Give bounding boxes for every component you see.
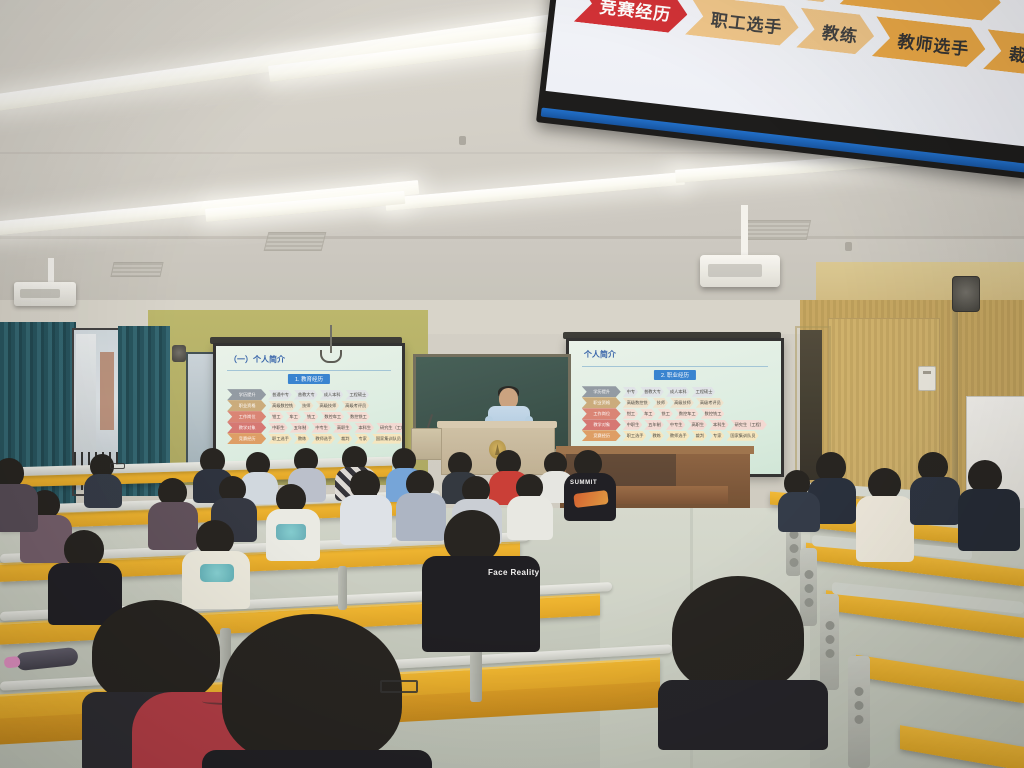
slide-row-label: 教学对象: [582, 419, 621, 430]
slide-cell: 高级技师: [316, 401, 340, 411]
ceiling-vent: [264, 232, 327, 251]
wall-speaker-icon: [172, 345, 186, 362]
soffit-edge: [0, 236, 1024, 239]
slide-row: 教学对象 中职生 五年制 中专生 高职生 本科生 研究生（工程）: [227, 422, 394, 433]
slide-cell: 工程硕士: [345, 390, 369, 400]
slide-cell: 教练: [796, 8, 876, 56]
shirt-graphic-text: SUMMIT: [570, 480, 597, 486]
slide-cell: 中职生: [623, 420, 643, 430]
slide-cell: 成人本科: [320, 390, 344, 400]
slide-cell: 高职生: [687, 420, 707, 430]
slide-divider: [582, 366, 769, 367]
slide-cell: 铣工: [303, 412, 318, 422]
shirt-graphic: [276, 524, 306, 540]
screen-hook: [330, 325, 332, 353]
slide-cell: 车工: [640, 409, 655, 419]
lecture-hall-photo: 教学对象 竞赛经历 职工选手 教练 教师选手 裁 （一）个人简介 1. 教育经历…: [0, 0, 1024, 768]
slide-cell: 职工选手: [685, 0, 801, 47]
slide-cell: 教练: [648, 431, 663, 441]
podium-top: [437, 421, 557, 428]
slide-cell: 教练: [294, 434, 309, 444]
slide-cell: 国家集训队员: [372, 434, 404, 444]
shirt-graphic-text: Face Reality: [488, 568, 540, 577]
wall-pipe: [952, 288, 958, 488]
slide-cell: 中专生: [311, 423, 331, 433]
projector-right-icon: [700, 255, 780, 287]
slide-cell: 国家集训队员: [726, 431, 758, 441]
slide-cell: 本科生: [709, 420, 729, 430]
slide-rows: 学历提升 中专 普教大专 成人本科 工程硕士 职业资格 高级数控铣 技师 高级技…: [582, 386, 773, 441]
bench-leg: [470, 644, 482, 702]
slide-row-label: 竞赛经历: [227, 433, 266, 444]
slide-cell: 裁判: [692, 431, 707, 441]
slide-cell: 中专: [623, 387, 638, 397]
projector-mount-pole: [741, 205, 748, 257]
stage-step: [600, 486, 728, 504]
slide-cell: 中专生: [666, 420, 686, 430]
ceiling-light-strip: [0, 12, 566, 112]
slide-cell: 教师选手: [872, 16, 988, 69]
slide-cell: 研究生（工程）: [376, 423, 405, 433]
slide-row: 竞赛经历 职工选手 教练 教师选手 裁判 专家 国家集训队员: [227, 433, 394, 444]
projector-left-icon: [14, 282, 76, 306]
slide-cell: 高级数控铣: [623, 398, 651, 408]
slide-cell: 数控铣工: [701, 409, 725, 419]
slide-row-label: 学历提升: [227, 389, 266, 400]
slide-cell: 钳工: [268, 412, 283, 422]
slide-row: 教学对象 中职生 五年制 中专生 高职生 本科生 研究生（工程）: [582, 419, 773, 430]
slide-cell: 专家: [354, 434, 369, 444]
slide-row: 学历提升 普通中专 普教大专 成人本科 工程硕士: [227, 389, 394, 400]
slide-cell: 专家: [709, 431, 724, 441]
slide-title: 个人简介: [584, 349, 616, 360]
slide-cell: 技师: [298, 401, 313, 411]
slide-row: 学历提升 中专 普教大专 成人本科 工程硕士: [582, 386, 773, 397]
slide-cell: 数控车工: [675, 409, 699, 419]
ceiling-vent: [743, 220, 811, 240]
slide-cell: 本科生: [354, 423, 374, 433]
slide-rows: 学历提升 普通中专 普教大专 成人本科 工程硕士 职业资格 高级数控铣 技师 高…: [227, 389, 394, 444]
slide-cell: 研究生（工程）: [731, 420, 767, 430]
slide-cell: 中职生: [268, 423, 288, 433]
slide-row-label: 工作岗位: [227, 411, 266, 422]
slide-cell: 五年制: [644, 420, 664, 430]
projector-mount-pole: [48, 258, 54, 284]
slide-cell: 普通中专: [268, 390, 292, 400]
bench-leg: [338, 566, 347, 610]
slide-row: 职业资格 高级数控铣 技师 高级技师 高级考评员: [227, 400, 394, 411]
slide-cell: 钳工: [623, 409, 638, 419]
wall-speaker-icon: [952, 276, 980, 312]
light-switch-plate[interactable]: [918, 366, 936, 391]
slide-subtitle: 1. 教育经历: [288, 374, 330, 384]
slide-row-label: 工作岗位: [582, 408, 621, 419]
slide-cell: 数控车工: [320, 412, 344, 422]
slide-cell: 裁判: [337, 434, 352, 444]
eyeglasses-icon: [380, 680, 418, 693]
slide-cell: 车工: [286, 412, 301, 422]
slide-cell: 普教大专: [294, 390, 318, 400]
slide-cell: 成人本科: [666, 387, 690, 397]
slide-row-label: 职业资格: [227, 400, 266, 411]
slide-cell: 职工选手: [623, 431, 647, 441]
slide-subtitle: 2. 职业经历: [654, 370, 696, 380]
slide-row-label: 职业资格: [582, 397, 621, 408]
slide-divider: [227, 370, 391, 371]
slide-cell: 职工选手: [268, 434, 292, 444]
sprinkler-head: [845, 242, 852, 251]
slide-cell: 高级技师: [670, 398, 694, 408]
slide-row-label: 竞赛经历: [582, 430, 621, 441]
slide-row: 工作岗位 钳工 车工 铣工 数控车工 数控铣工: [227, 411, 394, 422]
slide-cell: 教师选手: [311, 434, 335, 444]
slide-cell: 高级考评员: [341, 401, 369, 411]
slide-title: （一）个人简介: [229, 354, 285, 365]
slide-cell: 技师: [653, 398, 668, 408]
slide-cell: 工程硕士: [692, 387, 716, 397]
slide-row: 工作岗位 钳工 车工 铣工 数控车工 数控铣工: [582, 408, 773, 419]
eyeglasses-icon: [110, 463, 125, 469]
slide-cell: 普教大专: [640, 387, 664, 397]
slide-row: 竞赛经历 职工选手 教练 教师选手 裁判 专家 国家集训队员: [582, 430, 773, 441]
shirt-graphic: [200, 564, 234, 582]
slide-cell: 高级数控铣: [268, 401, 296, 411]
slide-cell: 数控铣工: [346, 412, 370, 422]
slide-row-label: 教学对象: [227, 422, 266, 433]
bench-frame: [848, 656, 870, 768]
slide-cell: 高职生: [333, 423, 353, 433]
slide-cell: 教师选手: [666, 431, 690, 441]
ceiling-vent: [110, 262, 163, 277]
ceiling-light-strip: [385, 172, 685, 211]
bench-frame: [820, 594, 839, 690]
slide-cell: 高级考评员: [696, 398, 724, 408]
sprinkler-head: [459, 136, 466, 145]
slide-row: 职业资格 高级数控铣 技师 高级技师 高级考评员: [582, 397, 773, 408]
slide-row-label: 竞赛经历: [574, 0, 690, 35]
slide-cell: 五年制: [290, 423, 310, 433]
bench-frame: [800, 548, 817, 626]
slide-cell: 裁: [983, 29, 1024, 75]
slide-cell: 铣工: [658, 409, 673, 419]
slide-row-label: 学历提升: [582, 386, 621, 397]
